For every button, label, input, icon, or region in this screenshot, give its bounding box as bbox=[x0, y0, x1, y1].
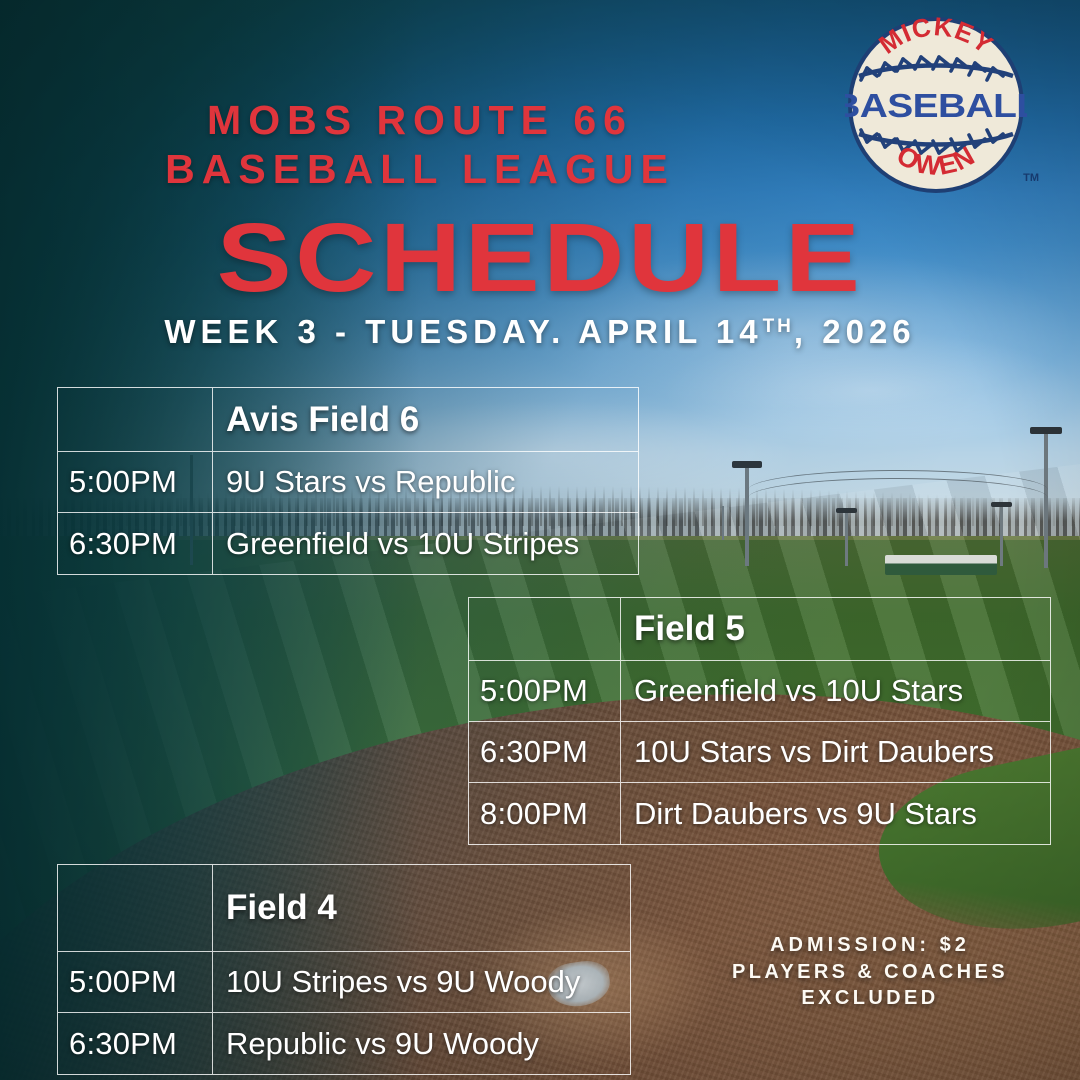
game-matchup: Dirt Daubers vs 9U Stars bbox=[621, 783, 1050, 844]
table-row: 5:00PM 10U Stripes vs 9U Woody bbox=[58, 952, 630, 1013]
field-name: Field 5 bbox=[621, 598, 1050, 660]
league-title-line2: BASEBALL LEAGUE bbox=[0, 145, 840, 194]
game-time: 5:00PM bbox=[58, 952, 213, 1012]
game-time: 8:00PM bbox=[469, 783, 621, 844]
field-name: Avis Field 6 bbox=[213, 388, 638, 451]
table-row: 6:30PM Greenfield vs 10U Stripes bbox=[58, 513, 638, 574]
header-blank-cell bbox=[469, 598, 621, 660]
game-matchup: 10U Stars vs Dirt Daubers bbox=[621, 722, 1050, 782]
schedule-table-avis-field-6: Avis Field 6 5:00PM 9U Stars vs Republic… bbox=[57, 387, 639, 575]
header-blank-cell bbox=[58, 865, 213, 951]
table-row: 8:00PM Dirt Daubers vs 9U Stars bbox=[469, 783, 1050, 844]
game-time: 6:30PM bbox=[58, 1013, 213, 1074]
game-time: 6:30PM bbox=[469, 722, 621, 782]
league-title-line1: MOBS ROUTE 66 bbox=[207, 97, 633, 143]
admission-exclusion-line1: PLAYERS & COACHES bbox=[690, 959, 1050, 985]
field-name: Field 4 bbox=[213, 865, 630, 951]
game-time: 5:00PM bbox=[58, 452, 213, 512]
game-matchup: 9U Stars vs Republic bbox=[213, 452, 638, 512]
date-prefix: WEEK 3 - TUESDAY. APRIL 14 bbox=[164, 313, 762, 350]
mickey-owen-baseball-logo: MICKEY BASEBALL OWEN TM bbox=[845, 14, 1027, 196]
game-matchup: Republic vs 9U Woody bbox=[213, 1013, 630, 1074]
table-row: 6:30PM 10U Stars vs Dirt Daubers bbox=[469, 722, 1050, 783]
admission-notice: ADMISSION: $2 PLAYERS & COACHES EXCLUDED bbox=[690, 932, 1050, 1011]
table-header-row: Field 5 bbox=[469, 598, 1050, 661]
date-ordinal: TH bbox=[763, 316, 794, 337]
game-time: 6:30PM bbox=[58, 513, 213, 574]
game-matchup: Greenfield vs 10U Stripes bbox=[213, 513, 638, 574]
svg-text:BASEBALL: BASEBALL bbox=[845, 87, 1027, 124]
table-row: 5:00PM Greenfield vs 10U Stars bbox=[469, 661, 1050, 722]
schedule-poster: MOBS ROUTE 66 BASEBALL LEAGUE SCHEDULE W… bbox=[0, 0, 1080, 1080]
table-header-row: Avis Field 6 bbox=[58, 388, 638, 452]
league-title: MOBS ROUTE 66 BASEBALL LEAGUE bbox=[0, 96, 840, 194]
header-blank-cell bbox=[58, 388, 213, 451]
game-matchup: Greenfield vs 10U Stars bbox=[621, 661, 1050, 721]
trademark-symbol: TM bbox=[1023, 172, 1039, 184]
admission-exclusion-line2: EXCLUDED bbox=[690, 985, 1050, 1011]
date-subtitle: WEEK 3 - TUESDAY. APRIL 14TH, 2026 bbox=[0, 313, 1080, 351]
game-matchup: 10U Stripes vs 9U Woody bbox=[213, 952, 630, 1012]
page-title: SCHEDULE bbox=[0, 208, 1080, 308]
table-row: 6:30PM Republic vs 9U Woody bbox=[58, 1013, 630, 1074]
schedule-table-field-5: Field 5 5:00PM Greenfield vs 10U Stars 6… bbox=[468, 597, 1051, 845]
game-time: 5:00PM bbox=[469, 661, 621, 721]
date-suffix: , 2026 bbox=[794, 313, 916, 350]
admission-price: ADMISSION: $2 bbox=[690, 932, 1050, 959]
table-header-row: Field 4 bbox=[58, 865, 630, 952]
schedule-table-field-4: Field 4 5:00PM 10U Stripes vs 9U Woody 6… bbox=[57, 864, 631, 1075]
table-row: 5:00PM 9U Stars vs Republic bbox=[58, 452, 638, 513]
